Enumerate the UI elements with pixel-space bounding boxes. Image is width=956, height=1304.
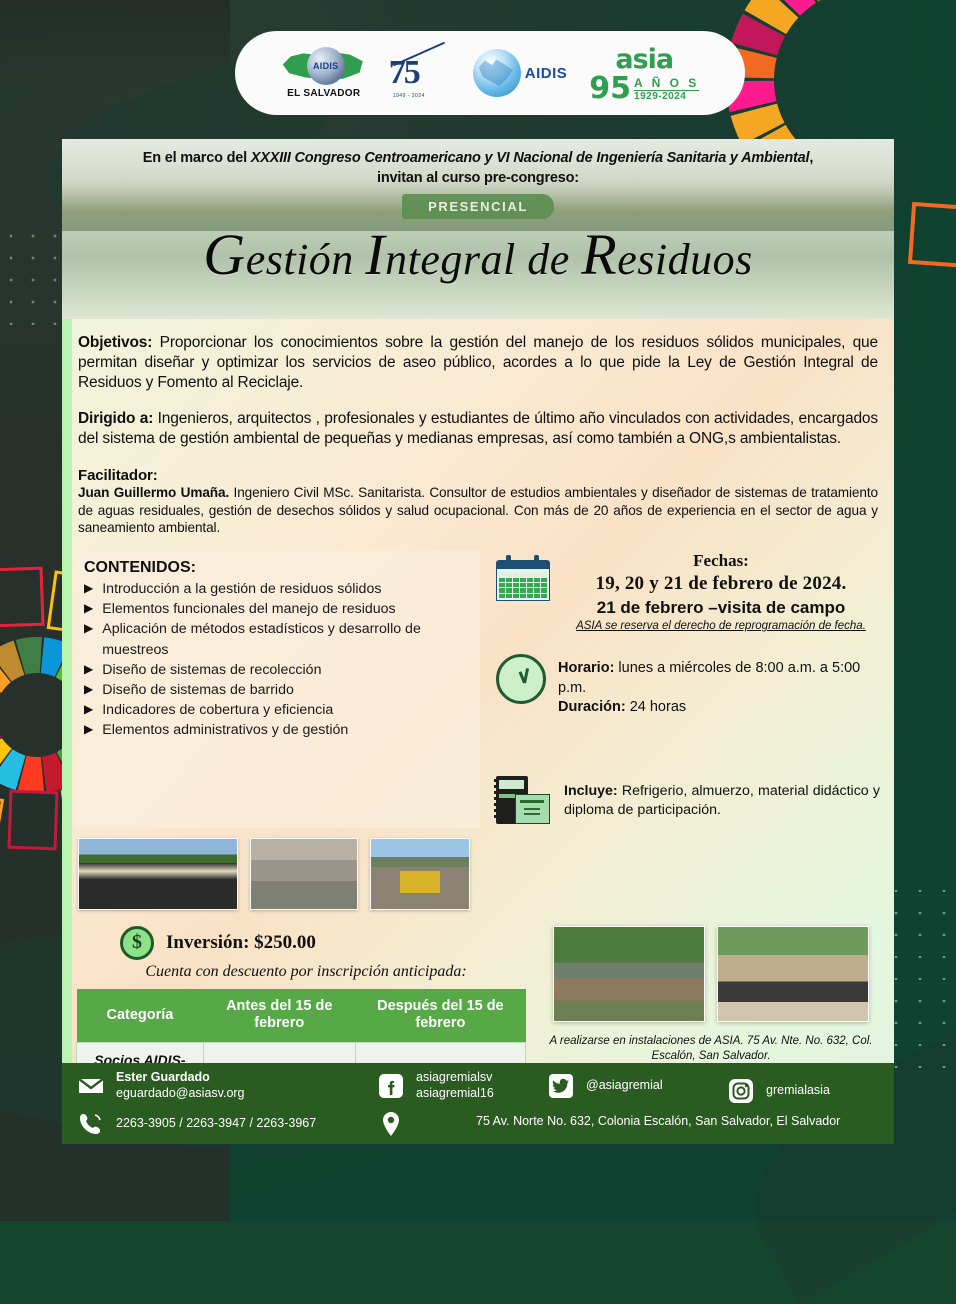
title-word-1: estión [246, 235, 366, 284]
contenidos-box: CONTENIDOS: ▶Introducción a la gestión d… [76, 551, 480, 828]
contenido-label: Aplicación de métodos estadísticos y des… [102, 619, 470, 659]
list-item: ▶Elementos funcionales del manejo de res… [84, 599, 470, 619]
logo-aidis-el-salvador: AIDIS EL SALVADOR [281, 47, 367, 99]
phone-contact[interactable]: 2263-3905 / 2263-3947 / 2263-3967 [76, 1111, 376, 1137]
contact-footer: Ester Guardado eguardado@asiasv.org 2263… [62, 1063, 894, 1144]
table-header-cell: Después del 15 de febrero [355, 989, 525, 1042]
fechas-disclaimer: ASIA se reserva el derecho de reprograma… [562, 620, 880, 632]
list-item: ▶Diseño de sistemas de barrido [84, 680, 470, 700]
title-word-3: esiduos [617, 235, 753, 284]
contact-email: eguardado@asiasv.org [116, 1086, 245, 1100]
aidis-globe-icon: AIDIS [307, 47, 345, 85]
venue-note: A realizarse en instalaciones de ASIA. 7… [542, 1034, 880, 1065]
arrow-icon: ▶ [84, 680, 93, 700]
list-item: ▶Indicadores de cobertura y eficiencia [84, 700, 470, 720]
instagram-icon [726, 1078, 756, 1104]
incluye-block: Incluye: Refrigerio, almuerzo, material … [496, 776, 880, 828]
intro-suffix: , [809, 150, 813, 166]
objetivos-text: Proporcionar los conocimientos sobre la … [78, 334, 878, 391]
horario-block: Horario: lunes a miércoles de 8:00 a.m. … [496, 654, 880, 718]
contenido-label: Diseño de sistemas de recolección [102, 660, 321, 680]
facebook-handle-2: asiagremial16 [416, 1086, 494, 1100]
congress-name: XXXIII Congreso Centroamericano y VI Nac… [251, 150, 810, 166]
details-column: Fechas: 19, 20 y 21 de febrero de 2024. … [490, 551, 880, 828]
photo-landfill-aerial [717, 926, 869, 1022]
dirigido-text: Ingenieros, arquitectos , profesionales … [78, 410, 878, 447]
objetivos-paragraph: Objetivos: Proporcionar los conocimiento… [62, 333, 894, 392]
contenido-label: Introducción a la gestión de residuos só… [102, 579, 381, 599]
modality-badge: PRESENCIAL [402, 194, 554, 219]
list-item: ▶Elementos administrativos y de gestión [84, 720, 470, 740]
location-pin-icon [376, 1111, 406, 1137]
facebook-handle-1: asiagremialsv [416, 1070, 492, 1084]
hero-banner: En el marco del XXXIII Congreso Centroam… [62, 139, 894, 319]
intro-line2: invitan al curso pre-congreso: [377, 170, 579, 186]
investment-row: $ Inversión: $250.00 [76, 926, 526, 960]
phone-icon [76, 1111, 106, 1137]
contenido-label: Elementos administrativos y de gestión [102, 720, 348, 740]
money-icon: $ [120, 926, 154, 960]
list-item: ▶Introducción a la gestión de residuos s… [84, 579, 470, 599]
photo-truck-lagoon [553, 926, 705, 1022]
early-bird-note: Cuenta con descuento por inscripción ant… [76, 963, 526, 981]
photo-waste-pickers [250, 838, 358, 910]
intro-prefix: En el marco del [143, 150, 251, 166]
horario-label: Horario: [558, 660, 614, 676]
middle-section: CONTENIDOS: ▶Introducción a la gestión d… [62, 551, 894, 828]
duracion-label: Duración: [558, 699, 626, 715]
venue-photos [542, 926, 880, 1022]
facebook-contact[interactable]: asiagremialsv asiagremial16 [376, 1070, 546, 1101]
fechas-heading: Fechas: [562, 551, 880, 571]
title-cap-g: G [203, 222, 245, 287]
course-title: Gestión Integral de Residuos [62, 221, 894, 288]
photo-landfill-cell [78, 838, 238, 910]
dirigido-paragraph: Dirigido a: Ingenieros, arquitectos , pr… [62, 409, 894, 449]
email-icon [76, 1073, 106, 1099]
email-contact[interactable]: Ester Guardado eguardado@asiasv.org [76, 1070, 376, 1101]
aidis-wordmark: AIDIS [525, 65, 568, 82]
address-text: 75 Av. Norte No. 632, Colonia Escalón, S… [476, 1114, 840, 1128]
title-word-2: ntegral de [385, 235, 581, 284]
list-item: ▶Diseño de sistemas de recolección [84, 660, 470, 680]
footer-column-instagram: gremialasia 75 Av. Norte No. 632, Coloni… [726, 1078, 880, 1130]
flyer-card: En el marco del XXXIII Congreso Centroam… [62, 139, 894, 1144]
objetivos-label: Objetivos: [78, 334, 152, 351]
globe-icon [473, 49, 521, 97]
arrow-icon: ▶ [84, 700, 93, 720]
arrow-icon: ▶ [84, 660, 93, 680]
congress-intro: En el marco del XXXIII Congreso Centroam… [62, 139, 894, 188]
facilitador-name: Juan Guillermo Umaña. [78, 485, 229, 500]
asia-year-range: 1929-2024 [634, 90, 699, 102]
arrow-icon: ▶ [84, 720, 93, 740]
arrow-icon: ▶ [84, 599, 93, 619]
contact-name: Ester Guardado [116, 1070, 210, 1084]
table-header-row: Categoría Antes del 15 de febrero Despué… [77, 989, 526, 1042]
facilitador-heading: Facilitador: [78, 467, 878, 484]
asia-years-number: 95 [589, 75, 631, 102]
contenido-label: Elementos funcionales del manejo de resi… [102, 599, 395, 619]
table-header-cell: Categoría [77, 989, 204, 1042]
calendar-icon [496, 555, 550, 603]
facebook-icon [376, 1073, 406, 1099]
el-salvador-map-icon: AIDIS [281, 47, 367, 87]
instagram-contact[interactable]: gremialasia [726, 1078, 880, 1104]
list-item: ▶Aplicación de métodos estadísticos y de… [84, 619, 470, 659]
arrow-icon: ▶ [84, 579, 93, 599]
contenido-label: Indicadores de cobertura y eficiencia [102, 700, 333, 720]
twitter-contact[interactable]: @asiagremial [546, 1073, 726, 1099]
incluye-label: Incluye: [564, 783, 618, 799]
photo-strip [62, 838, 894, 910]
footer-column-contact: Ester Guardado eguardado@asiasv.org 2263… [76, 1070, 376, 1137]
contenidos-title: CONTENIDOS: [84, 559, 470, 577]
materials-icon [496, 776, 550, 828]
logo-75-anniversary: 75 1949 - 2024 [389, 45, 451, 101]
clock-icon [496, 654, 546, 704]
twitter-handle: @asiagremial [586, 1078, 663, 1092]
investment-amount: Inversión: $250.00 [166, 932, 316, 954]
duracion-value: 24 horas [626, 699, 686, 715]
logo-caption: EL SALVADOR [287, 88, 360, 99]
logo-asia-95: asia 95 A Ñ O S 1929-2024 [589, 44, 699, 102]
photo-bulldozer [370, 838, 470, 910]
logo-bar: AIDIS EL SALVADOR 75 1949 - 2024 AIDIS a… [235, 31, 745, 115]
facilitador-block: Facilitador: Juan Guillermo Umaña. Ingen… [62, 467, 894, 537]
logo-aidis: AIDIS [473, 49, 568, 97]
table-header-cell: Antes del 15 de febrero [203, 989, 355, 1042]
twitter-icon [546, 1073, 576, 1099]
asia-anos-label: A Ñ O S [634, 76, 699, 90]
fechas-block: Fechas: 19, 20 y 21 de febrero de 2024. … [496, 551, 880, 632]
dot-grid-pattern [0, 225, 70, 325]
contact-phones: 2263-3905 / 2263-3947 / 2263-3967 [116, 1116, 316, 1130]
fechas-field-visit: 21 de febrero –visita de campo [562, 598, 880, 618]
instagram-handle: gremialasia [766, 1083, 830, 1097]
title-cap-i: I [365, 222, 385, 287]
title-cap-r: R [581, 222, 617, 287]
anniversary-years: 1949 - 2024 [393, 93, 425, 99]
dirigido-label: Dirigido a: [78, 410, 153, 427]
fechas-dates: 19, 20 y 21 de febrero de 2024. [562, 573, 880, 595]
arrow-icon: ▶ [84, 619, 93, 659]
footer-address: 75 Av. Norte No. 632, Colonia Escalón, S… [726, 1114, 880, 1130]
contenido-label: Diseño de sistemas de barrido [102, 680, 294, 700]
